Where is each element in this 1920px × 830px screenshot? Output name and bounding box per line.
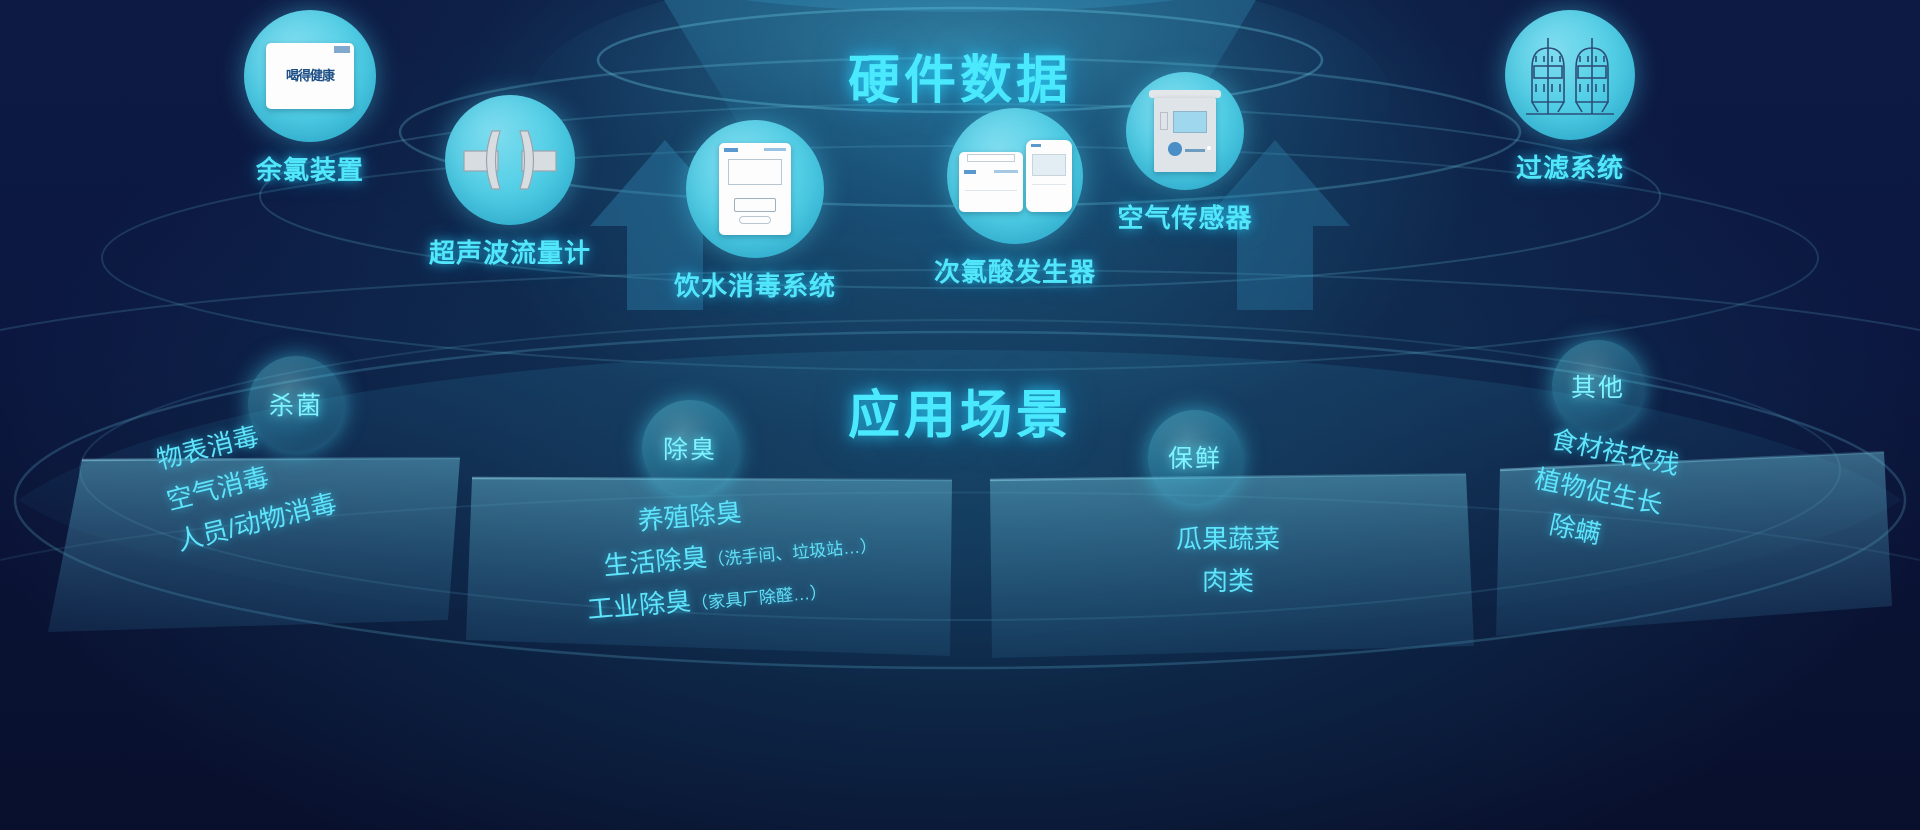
- hardware-node-label: 次氯酸发生器: [875, 252, 1155, 289]
- scenario-bubble-label[interactable]: 杀菌: [248, 356, 344, 452]
- hardware-node-ultrasonic-flowmeter[interactable]: 超声波流量计: [370, 95, 650, 270]
- scenario-bubble-label[interactable]: 除臭: [642, 400, 738, 496]
- air-sensor-icon: [1126, 72, 1244, 190]
- scenario-panels-background: [0, 440, 1920, 770]
- hardware-node-label: 空气传感器: [1065, 198, 1305, 235]
- residual-chlorine-device-icon: 喝得健康: [244, 10, 376, 142]
- filtration-system-icon: [1505, 10, 1635, 140]
- scenario-item: 人员/动物消毒: [172, 482, 341, 562]
- scenario-item: 生活除臭（洗手间、垃圾站…）: [602, 521, 879, 587]
- scenario-item: 植物促生长: [1531, 458, 1675, 528]
- hardware-node-air-sensor[interactable]: 空气传感器: [1065, 72, 1305, 235]
- scenario-item: 除螨: [1545, 504, 1665, 569]
- scenario-bubble-label[interactable]: 保鲜: [1148, 410, 1242, 504]
- hardware-node-filtration-system[interactable]: 过滤系统: [1420, 10, 1720, 185]
- hardware-node-label: 超声波流量计: [370, 233, 650, 270]
- scenario-item-list: 瓜果蔬菜 肉类: [1138, 518, 1318, 602]
- hypochlorous-acid-generator-icon: [947, 108, 1083, 244]
- scenario-bubble-label[interactable]: 其他: [1552, 340, 1644, 432]
- drinking-water-disinfection-system-icon: [686, 120, 824, 258]
- scenario-item-list: 养殖除臭 生活除臭（洗手间、垃圾站…） 工业除臭（家具厂除醛…）: [636, 479, 882, 625]
- infographic-canvas: 硬件数据 喝得健康 余氯装置 超声波流量计: [0, 0, 1920, 830]
- scenario-item: 工业除臭（家具厂除醛…）: [586, 563, 883, 631]
- device-brand-text: 喝得健康: [266, 65, 354, 84]
- scenario-item: 瓜果蔬菜: [1138, 518, 1318, 560]
- hardware-node-label: 饮水消毒系统: [615, 266, 895, 303]
- scenario-item: 肉类: [1138, 560, 1318, 602]
- ultrasonic-flowmeter-icon: [445, 95, 575, 225]
- scenario-item: 空气消毒: [162, 441, 331, 521]
- hardware-node-label: 过滤系统: [1420, 148, 1720, 185]
- hardware-node-drinking-water-disinfection[interactable]: 饮水消毒系统: [615, 120, 895, 303]
